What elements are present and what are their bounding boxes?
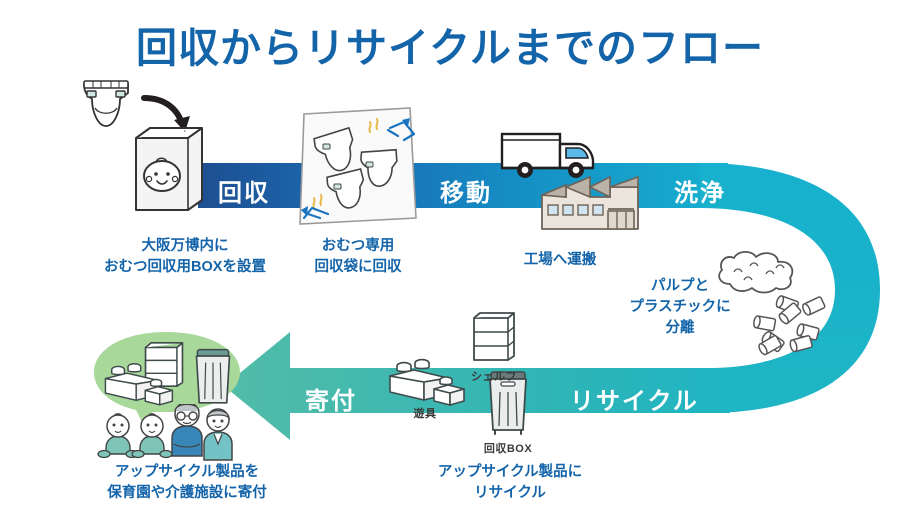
caption-collect-bag-line1: おむつ専用 xyxy=(248,236,468,257)
stage-label-kifu: 寄付 xyxy=(305,381,357,416)
product-label-collect-box: 回収BOX xyxy=(473,440,543,456)
people-group-icon xyxy=(96,404,238,464)
caption-upcycle: アップサイクル製品に リサイクル xyxy=(370,462,650,504)
caption-to-factory: 工場へ運搬 xyxy=(470,250,650,271)
stage-label-kaishu: 回収 xyxy=(218,173,270,208)
diaper-bag-icon xyxy=(292,106,426,230)
stage-label-idou: 移動 xyxy=(440,173,492,208)
recycle-bin-icon-bubble xyxy=(190,346,236,412)
caption-donate-line1: アップサイクル製品を xyxy=(62,462,312,483)
caption-collect-bag-line2: 回収袋に回収 xyxy=(248,257,468,278)
caption-collect-bag: おむつ専用 回収袋に回収 xyxy=(248,236,468,278)
stage-label-senjo: 洗浄 xyxy=(674,173,726,208)
toy-blocks-icon-bubble xyxy=(100,360,176,408)
product-label-shelf: シェルフ xyxy=(456,368,532,384)
caption-to-factory-line1: 工場へ運搬 xyxy=(470,250,650,271)
collection-box-icon xyxy=(126,122,212,214)
infographic-canvas: 回収からリサイクルまでのフロー xyxy=(0,0,900,505)
shelf-icon xyxy=(468,308,520,366)
caption-separate-line2: プラスチックに xyxy=(590,297,770,318)
caption-separate: パルプと プラスチックに 分離 xyxy=(590,276,770,339)
caption-separate-line1: パルプと xyxy=(590,276,770,297)
caption-upcycle-line2: リサイクル xyxy=(370,483,650,504)
stage-label-recycle: リサイクル xyxy=(570,381,699,416)
caption-upcycle-line1: アップサイクル製品に xyxy=(370,462,650,483)
caption-donate-line2: 保育園や介護施設に寄付 xyxy=(62,483,312,504)
truck-icon xyxy=(498,128,600,182)
caption-separate-line3: 分離 xyxy=(590,318,770,339)
factory-icon xyxy=(538,175,642,235)
product-label-playset: 遊具 xyxy=(390,405,460,421)
caption-donate: アップサイクル製品を 保育園や介護施設に寄付 xyxy=(62,462,312,504)
